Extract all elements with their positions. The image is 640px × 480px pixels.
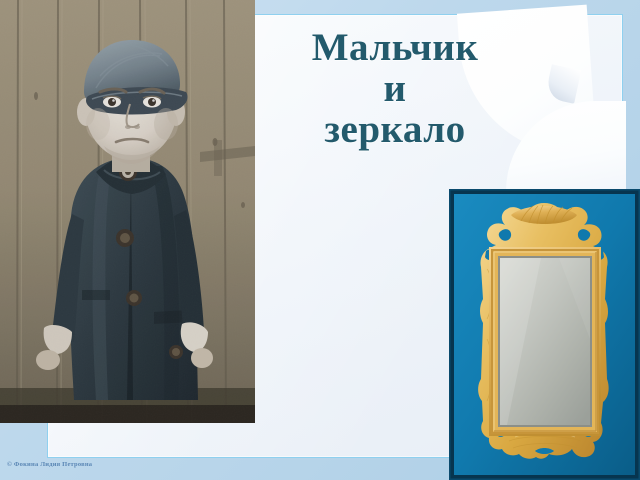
slide-canvas: Мальчик и зеркало — [0, 0, 640, 480]
slide-title-line-2: и — [250, 69, 540, 110]
slide-title-line-3: зеркало — [250, 110, 540, 151]
slide-title-line-1: Мальчик — [250, 28, 540, 69]
copyright-text: © Фокина Лидия Петровна — [7, 461, 92, 468]
photo-mirror-image — [449, 189, 640, 480]
photo-mirror — [449, 189, 640, 480]
photo-boy — [0, 0, 255, 423]
photo-boy-image — [0, 0, 255, 423]
slide-title: Мальчик и зеркало — [250, 28, 540, 151]
